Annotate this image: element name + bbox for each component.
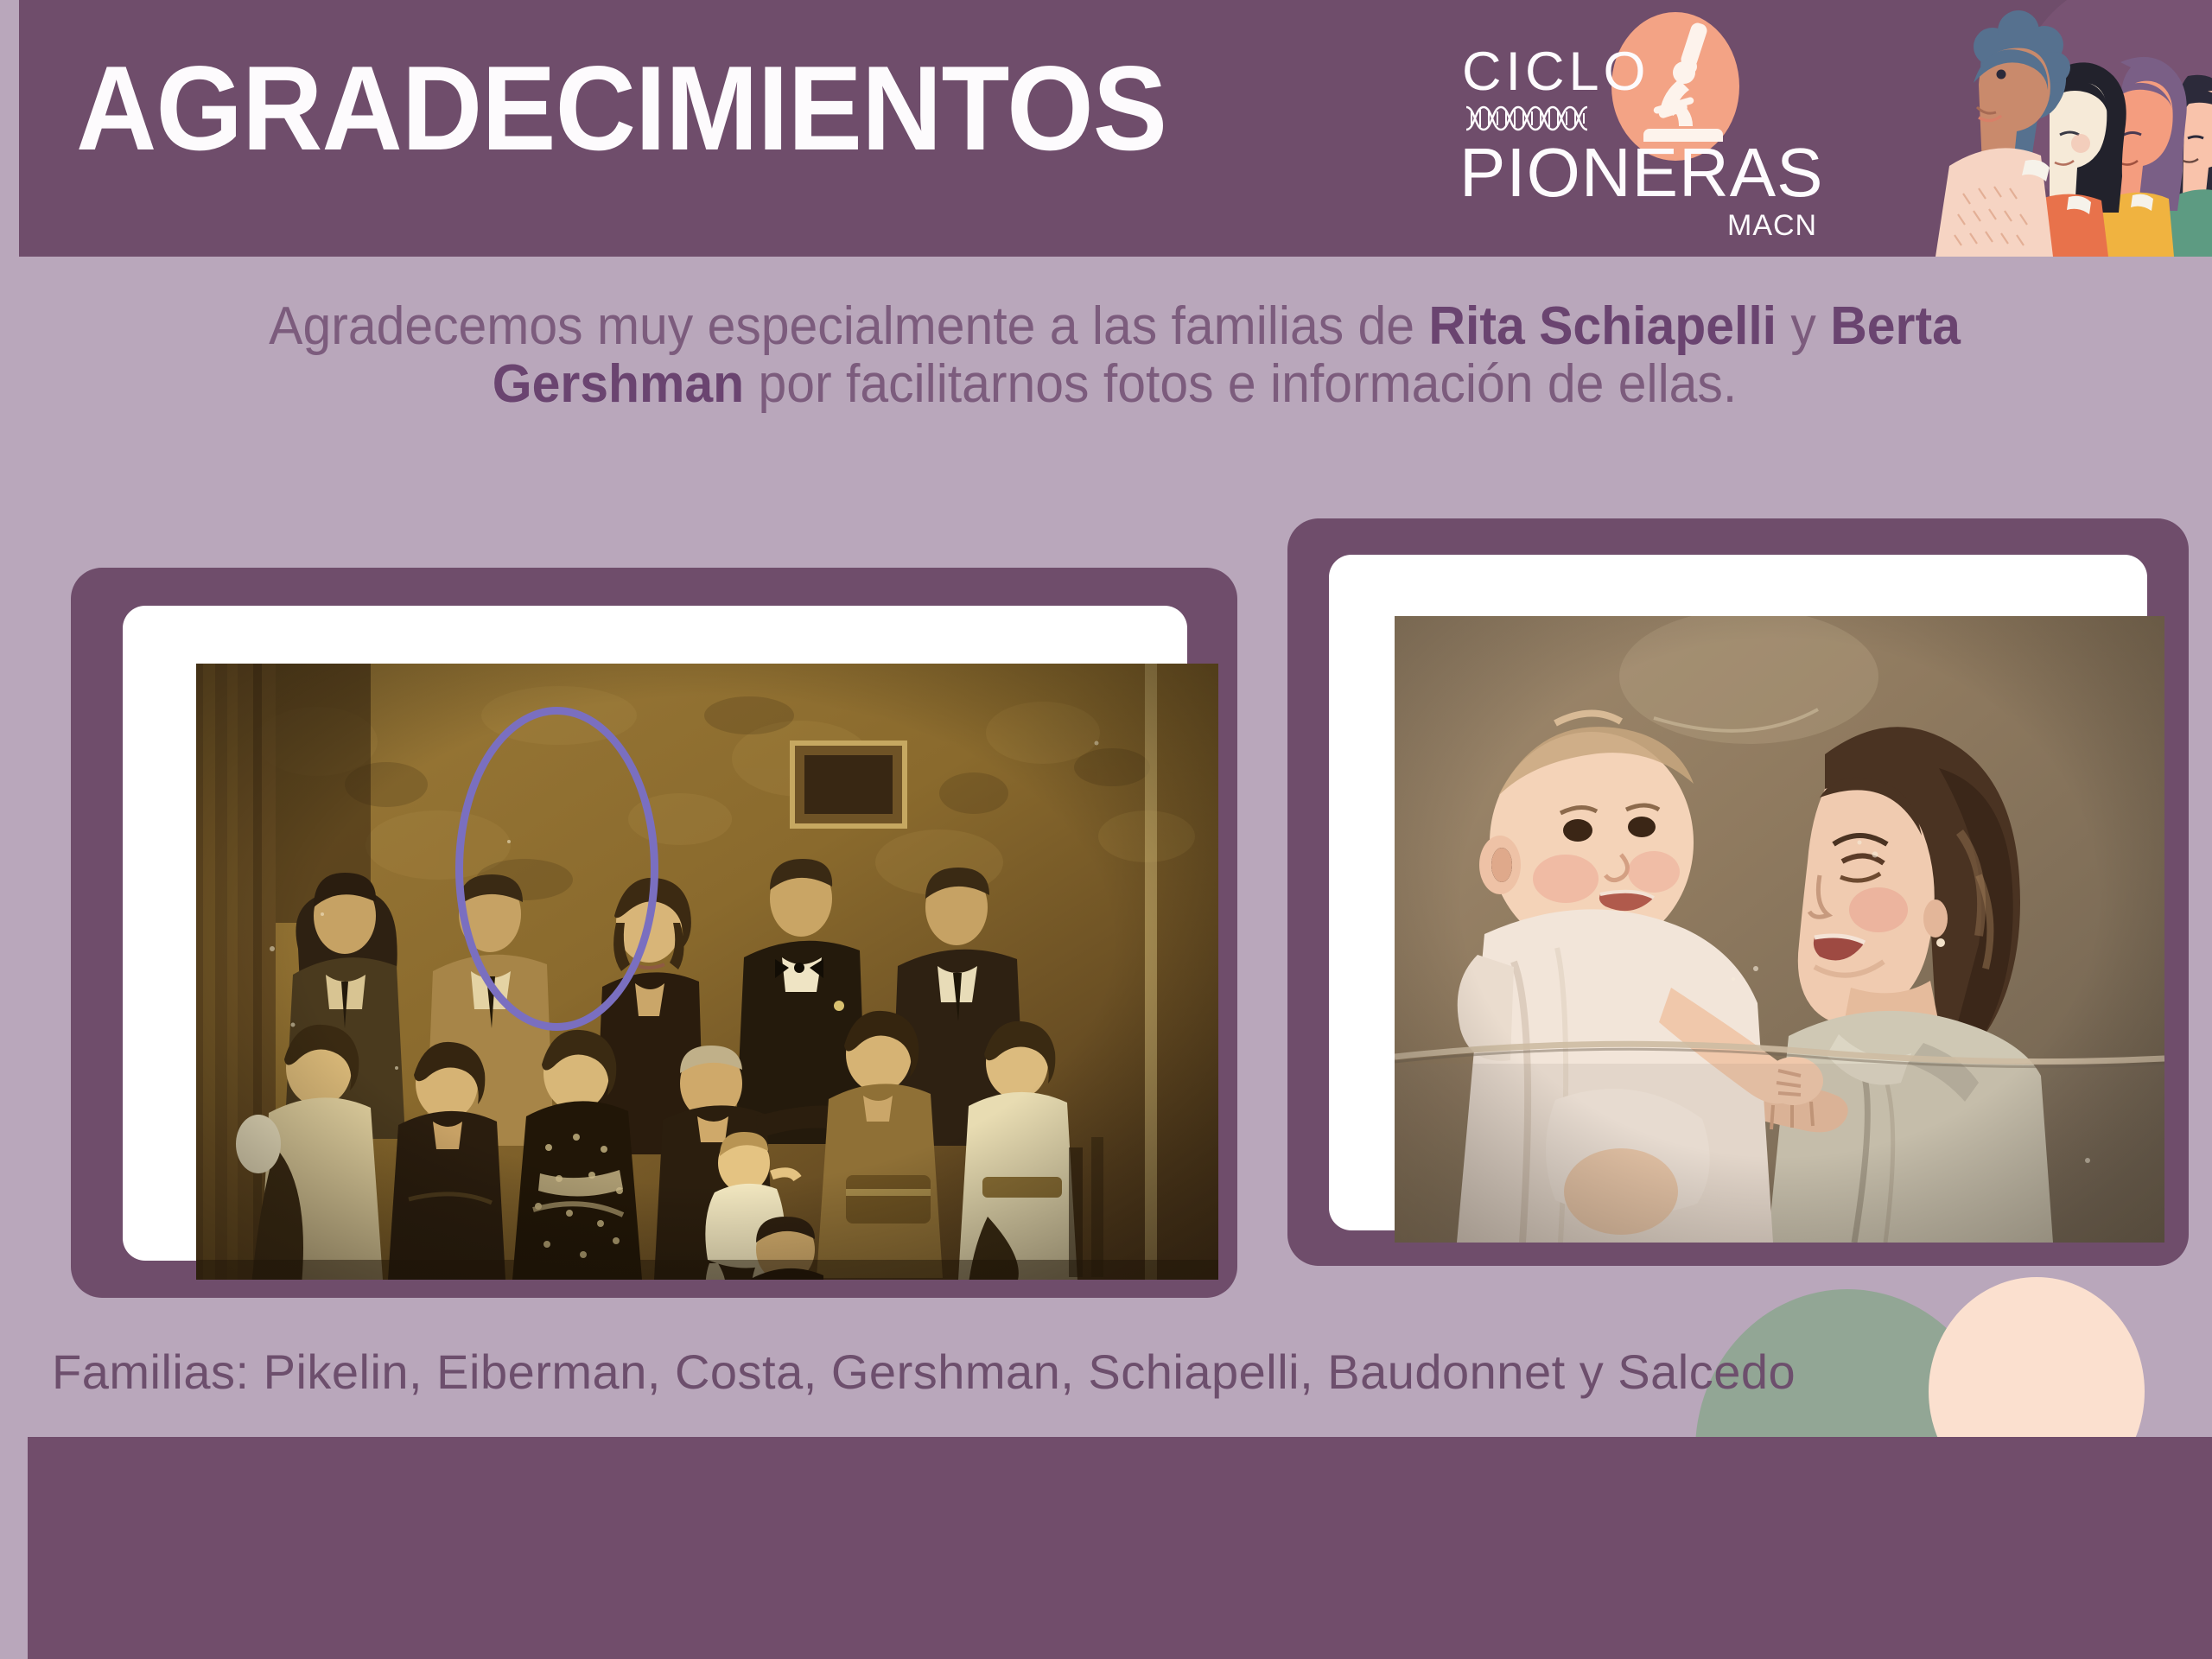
- intro-part-2: y: [1777, 296, 1830, 356]
- logo-line-ciclo: CICLO: [1462, 45, 1650, 99]
- footer-band: [28, 1437, 2212, 1659]
- intro-part-1: Agradecemos muy especialmente a las fami…: [269, 296, 1428, 356]
- ciclo-pioneras-logo: CICLO PIONERAS MACN: [1451, 7, 1883, 249]
- page-title: AGRADECIMIENTOS: [76, 48, 1166, 168]
- mother-and-baby-photo-frame: [1287, 518, 2189, 1266]
- family-group-photo: [196, 664, 1218, 1280]
- dna-helix-icon: [1465, 104, 1594, 133]
- intro-part-3: por facilitarnos fotos e información de …: [744, 354, 1737, 414]
- family-group-photo-frame: [71, 568, 1237, 1298]
- families-caption: Familias: Pikelin, Eiberman, Costa, Gers…: [52, 1344, 1796, 1400]
- family-name-schiapelli: Rita Schiapelli: [1428, 296, 1777, 356]
- slide-canvas: AGRADECIMIENTOS: [0, 0, 2212, 1659]
- header-band: AGRADECIMIENTOS: [19, 0, 2212, 257]
- logo-institution-macn: MACN: [1727, 211, 1817, 240]
- mother-and-baby-photo: [1395, 616, 2164, 1243]
- logo-line-pioneras: PIONERAS: [1459, 138, 1823, 207]
- photo-white-mat: [1329, 555, 2147, 1230]
- acknowledgement-paragraph: Agradecemos muy especialmente a las fami…: [138, 298, 2092, 414]
- photo-white-mat: [123, 606, 1187, 1261]
- four-women-profiles-illustration: [1929, 0, 2212, 257]
